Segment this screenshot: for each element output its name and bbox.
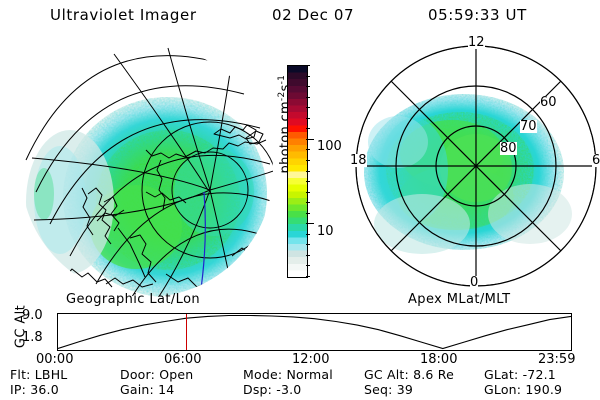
status-door: Door: Open (120, 367, 193, 382)
geographic-plot-caption: Geographic Lat/Lon (66, 292, 200, 307)
strip-xtick-3: 18:00 (420, 352, 457, 367)
colorbar-unit-exp2: -1 (277, 75, 287, 85)
header-bar: Ultraviolet Imager 02 Dec 07 05:59:33 UT (0, 6, 600, 30)
colorbar-tick-label-10: 10 (317, 224, 334, 239)
colorbar-unit-exp1: -2 (277, 92, 287, 102)
apex-plot-svg (352, 42, 600, 290)
colorbar-gradient-box (287, 65, 308, 278)
mlat-label-80: 80 (500, 142, 517, 155)
status-gc-alt: GC Alt: 8.6 Re (364, 367, 454, 382)
mlt-label-18: 18 (350, 154, 367, 167)
time-cursor (186, 314, 187, 350)
status-bar: Flt: LBHL IP: 36.0 Door: Open Gain: 14 M… (0, 367, 600, 397)
status-glon: GLon: 190.9 (484, 382, 562, 397)
colorbar: photon cm-2s-1 100 10 (262, 58, 348, 284)
strip-xtick-1: 06:00 (164, 352, 201, 367)
status-seq: Seq: 39 (364, 382, 413, 397)
geographic-polar-plot[interactable] (18, 42, 276, 300)
mlt-label-6: 6 (592, 154, 600, 167)
instrument-title: Ultraviolet Imager (50, 6, 197, 24)
strip-xtick-4: 23:59 (538, 352, 575, 367)
mlt-label-12: 12 (468, 36, 485, 49)
colorbar-gradient (288, 66, 307, 277)
strip-xtick-2: 12:00 (292, 352, 329, 367)
status-ip: IP: 36.0 (10, 382, 59, 397)
colorbar-ticks (306, 65, 314, 278)
orbit-altitude-track (58, 316, 571, 349)
status-gain: Gain: 14 (120, 382, 174, 397)
strip-chart-svg (58, 314, 571, 350)
mlat-label-60: 60 (540, 96, 557, 109)
observation-time: 05:59:33 UT (428, 6, 527, 24)
apex-mlt-polar-plot[interactable]: 12 18 6 0 60 70 80 (352, 42, 600, 290)
status-dsp: Dsp: -3.0 (243, 382, 301, 397)
apex-plot-caption: Apex MLat/MLT (408, 292, 510, 307)
uvi-display-root: Ultraviolet Imager 02 Dec 07 05:59:33 UT (0, 0, 600, 400)
observation-date: 02 Dec 07 (272, 6, 354, 24)
orbit-altitude-strip-chart[interactable] (57, 313, 572, 351)
status-mode: Mode: Normal (243, 367, 333, 382)
strip-xtick-0: 00:00 (36, 352, 73, 367)
geographic-plot-svg (18, 42, 276, 300)
status-glat: GLat: -72.1 (484, 367, 556, 382)
mlt-label-0: 0 (470, 276, 478, 289)
status-filter: Flt: LBHL (10, 367, 67, 382)
mlat-label-70: 70 (520, 120, 537, 133)
colorbar-tick-label-100: 100 (317, 139, 342, 154)
